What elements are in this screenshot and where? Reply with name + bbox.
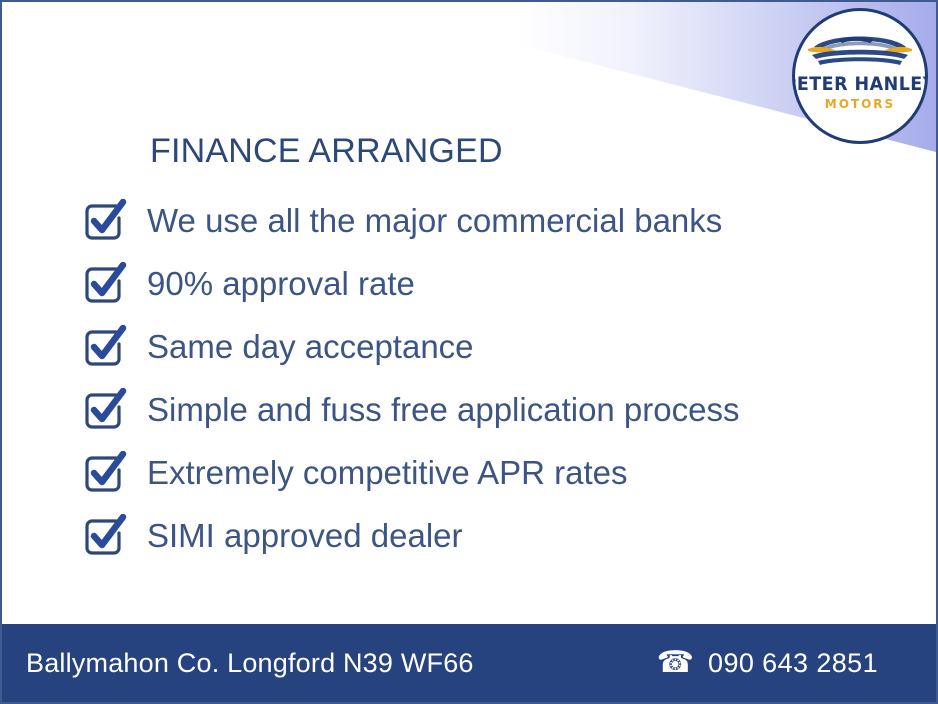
benefit-label: 90% approval rate xyxy=(147,267,415,300)
phone-number[interactable]: 090 643 2851 xyxy=(708,648,878,679)
list-item: Extremely competitive APR rates xyxy=(2,441,936,504)
benefit-label: We use all the major commercial banks xyxy=(147,204,722,237)
checkbox-checked-icon xyxy=(83,514,127,558)
list-item: Simple and fuss free application process xyxy=(2,378,936,441)
logo-subtitle: MOTORS xyxy=(825,98,895,110)
list-item: SIMI approved dealer xyxy=(2,504,936,567)
logo-brand-name: PETER HANLEY xyxy=(792,75,928,94)
checkbox-checked-icon xyxy=(83,325,127,369)
telephone-icon: ☎ xyxy=(657,648,694,678)
dealer-logo-badge: PETER HANLEY MOTORS xyxy=(792,8,928,144)
benefit-list: We use all the major commercial banks 90… xyxy=(2,189,936,567)
contact-footer-bar: Ballymahon Co. Longford N39 WF66 ☎ 090 6… xyxy=(2,624,936,702)
page-title: FINANCE ARRANGED xyxy=(150,132,936,171)
checkbox-checked-icon xyxy=(83,388,127,432)
phone-contact[interactable]: ☎ 090 643 2851 xyxy=(657,648,878,679)
checkbox-checked-icon xyxy=(83,199,127,243)
dealer-address: Ballymahon Co. Longford N39 WF66 xyxy=(26,648,474,679)
benefit-label: Simple and fuss free application process xyxy=(147,393,740,426)
list-item: 90% approval rate xyxy=(2,252,936,315)
checkbox-checked-icon xyxy=(83,262,127,306)
benefit-label: SIMI approved dealer xyxy=(147,519,463,552)
main-content: FINANCE ARRANGED We use all the major co… xyxy=(2,132,936,567)
benefit-label: Extremely competitive APR rates xyxy=(147,456,628,489)
list-item: Same day acceptance xyxy=(2,315,936,378)
benefit-label: Same day acceptance xyxy=(147,330,474,363)
checkbox-checked-icon xyxy=(83,451,127,495)
list-item: We use all the major commercial banks xyxy=(2,189,936,252)
finance-advert-card: PETER HANLEY MOTORS FINANCE ARRANGED We … xyxy=(0,0,938,704)
car-icon xyxy=(804,25,916,73)
